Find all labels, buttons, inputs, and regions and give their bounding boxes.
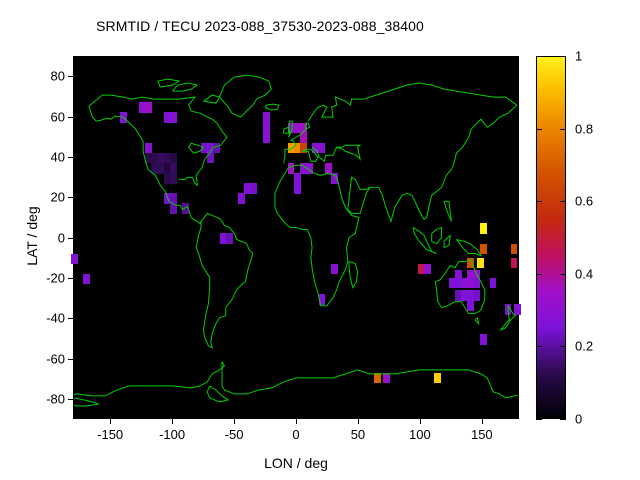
heatmap-cell bbox=[294, 173, 301, 184]
heatmap-cell bbox=[251, 183, 258, 194]
heatmap-cell bbox=[306, 163, 313, 174]
colorbar-tick-label: 0.4 bbox=[575, 266, 593, 281]
heatmap-cell bbox=[263, 133, 270, 144]
y-tick bbox=[68, 278, 73, 279]
colorbar-tick-label: 0 bbox=[575, 412, 582, 427]
heatmap-cell bbox=[263, 112, 270, 123]
heatmap-cell bbox=[170, 163, 177, 174]
x-tick-label: -100 bbox=[159, 427, 185, 442]
heatmap-cell bbox=[170, 193, 177, 204]
heatmap-cell bbox=[511, 244, 518, 255]
heatmap-cell bbox=[288, 163, 295, 174]
colorbar-tick bbox=[560, 201, 566, 202]
colorbar-tick bbox=[536, 56, 542, 57]
chart-title: SRMTID / TECU 2023-088_37530-2023-088_38… bbox=[0, 18, 520, 34]
x-tick-label: 150 bbox=[471, 427, 493, 442]
colorbar-gradient bbox=[537, 57, 565, 418]
heatmap-cell bbox=[383, 373, 390, 384]
heatmap-cell bbox=[213, 143, 220, 154]
colorbar-tick-label: 0.2 bbox=[575, 339, 593, 354]
colorbar-tick bbox=[536, 129, 542, 130]
heatmap-cell bbox=[424, 264, 431, 275]
heatmap-cell bbox=[511, 258, 518, 269]
y-tick bbox=[68, 359, 73, 360]
y-tick-label: 80 bbox=[21, 69, 65, 84]
chart-root: SRMTID / TECU 2023-088_37530-2023-088_38… bbox=[0, 0, 640, 480]
heatmap-cell bbox=[170, 153, 177, 164]
x-tick bbox=[358, 419, 359, 424]
y-tick-label: -60 bbox=[21, 351, 65, 366]
heatmap-cell bbox=[331, 173, 338, 184]
colorbar-tick bbox=[536, 274, 542, 275]
y-tick-label: -80 bbox=[21, 391, 65, 406]
heatmap-cell bbox=[467, 300, 474, 311]
heatmap-cell bbox=[170, 173, 177, 184]
colorbar-tick bbox=[560, 129, 566, 130]
heatmap-cell bbox=[71, 254, 78, 265]
y-tick bbox=[68, 157, 73, 158]
colorbar-tick bbox=[560, 419, 566, 420]
heatmap-cell bbox=[480, 334, 487, 345]
colorbar-tick-label: 0.8 bbox=[575, 121, 593, 136]
x-tick bbox=[482, 419, 483, 424]
y-tick bbox=[68, 117, 73, 118]
heatmap-cell bbox=[434, 373, 441, 384]
heatmap-cell bbox=[170, 112, 177, 123]
heatmap-cell bbox=[263, 123, 270, 134]
heatmap-cell bbox=[474, 290, 481, 301]
heatmap-cells bbox=[74, 57, 518, 418]
heatmap-cell bbox=[480, 223, 487, 234]
heatmap-cell bbox=[300, 133, 307, 144]
colorbar-tick-label: 0.6 bbox=[575, 194, 593, 209]
y-tick-label: 20 bbox=[21, 190, 65, 205]
heatmap-cell bbox=[331, 264, 338, 275]
y-tick bbox=[68, 238, 73, 239]
heatmap-cell bbox=[145, 143, 152, 154]
plot-area[interactable] bbox=[73, 56, 519, 419]
heatmap-cell bbox=[83, 274, 90, 285]
heatmap-cell bbox=[182, 203, 189, 214]
y-tick bbox=[68, 318, 73, 319]
heatmap-cell bbox=[226, 233, 233, 244]
colorbar-tick bbox=[536, 201, 542, 202]
heatmap-cell bbox=[207, 153, 214, 164]
heatmap-cell bbox=[300, 123, 307, 134]
heatmap-cell bbox=[120, 112, 127, 123]
colorbar-tick bbox=[536, 346, 542, 347]
colorbar-tick bbox=[560, 56, 566, 57]
y-tick-label: 60 bbox=[21, 109, 65, 124]
heatmap-cell bbox=[325, 163, 332, 174]
x-tick-label: 50 bbox=[351, 427, 365, 442]
y-tick bbox=[68, 197, 73, 198]
colorbar-tick bbox=[560, 346, 566, 347]
heatmap-cell bbox=[505, 304, 512, 315]
heatmap-cell bbox=[294, 183, 301, 194]
heatmap-cell bbox=[319, 294, 326, 305]
heatmap-cell bbox=[480, 244, 487, 255]
heatmap-cell bbox=[490, 278, 497, 289]
y-tick-label: -20 bbox=[21, 270, 65, 285]
colorbar[interactable] bbox=[536, 56, 566, 419]
colorbar-tick-label: 1 bbox=[575, 49, 582, 64]
x-tick bbox=[296, 419, 297, 424]
x-tick bbox=[234, 419, 235, 424]
heatmap-cell bbox=[170, 203, 177, 214]
colorbar-tick bbox=[560, 274, 566, 275]
y-tick-label: 0 bbox=[21, 230, 65, 245]
x-tick-label: -150 bbox=[97, 427, 123, 442]
x-tick-label: -50 bbox=[225, 427, 244, 442]
x-tick bbox=[420, 419, 421, 424]
heatmap-cell bbox=[477, 258, 484, 269]
y-tick bbox=[68, 399, 73, 400]
heatmap-cell bbox=[319, 143, 326, 154]
x-tick-label: 100 bbox=[409, 427, 431, 442]
y-tick bbox=[68, 76, 73, 77]
heatmap-cell bbox=[514, 304, 521, 315]
heatmap-cell bbox=[238, 193, 245, 204]
x-tick-label: 0 bbox=[292, 427, 299, 442]
x-axis-title: LON / deg bbox=[73, 455, 519, 471]
heatmap-cell bbox=[474, 278, 481, 289]
heatmap-cell bbox=[145, 102, 152, 113]
colorbar-tick bbox=[536, 419, 542, 420]
y-tick-label: 40 bbox=[21, 149, 65, 164]
x-tick bbox=[110, 419, 111, 424]
heatmap-cell bbox=[467, 258, 474, 269]
y-tick-label: -40 bbox=[21, 311, 65, 326]
heatmap-cell bbox=[374, 373, 381, 384]
x-tick bbox=[172, 419, 173, 424]
heatmap-cell bbox=[300, 143, 307, 154]
